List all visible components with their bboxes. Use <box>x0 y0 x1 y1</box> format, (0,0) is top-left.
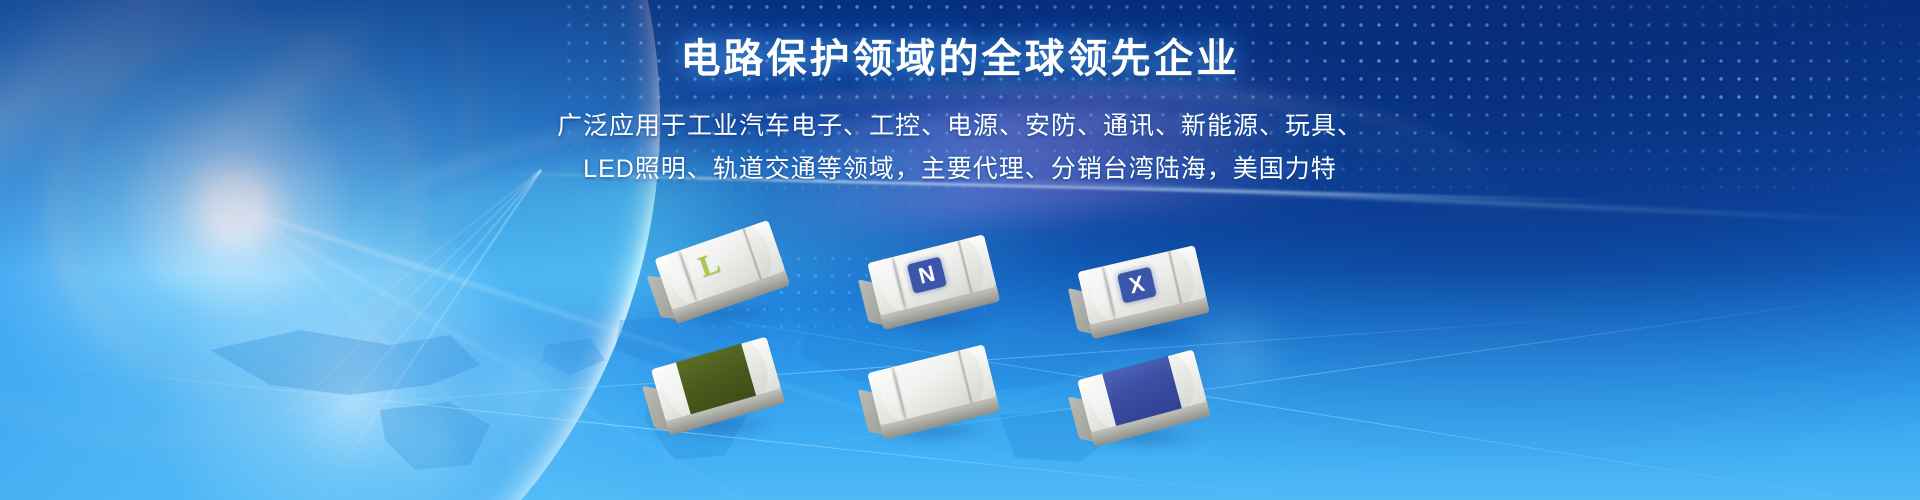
hero-banner: 电路保护领域的全球领先企业 广泛应用于工业汽车电子、工控、电源、安防、通讯、新能… <box>0 0 1920 500</box>
product-showcase: L N X <box>0 0 1920 500</box>
product-chip-green[interactable] <box>651 337 781 422</box>
product-chip-x[interactable]: X <box>1077 245 1206 325</box>
product-chip-blue[interactable] <box>1077 349 1207 432</box>
chip-marking-x: X <box>1117 267 1157 304</box>
chip-marking-l: L <box>695 248 724 283</box>
product-chip-l[interactable]: L <box>654 220 785 310</box>
product-chip-blank[interactable] <box>867 344 996 425</box>
product-chip-n[interactable]: N <box>867 234 996 315</box>
chip-marking-n: N <box>907 257 947 294</box>
